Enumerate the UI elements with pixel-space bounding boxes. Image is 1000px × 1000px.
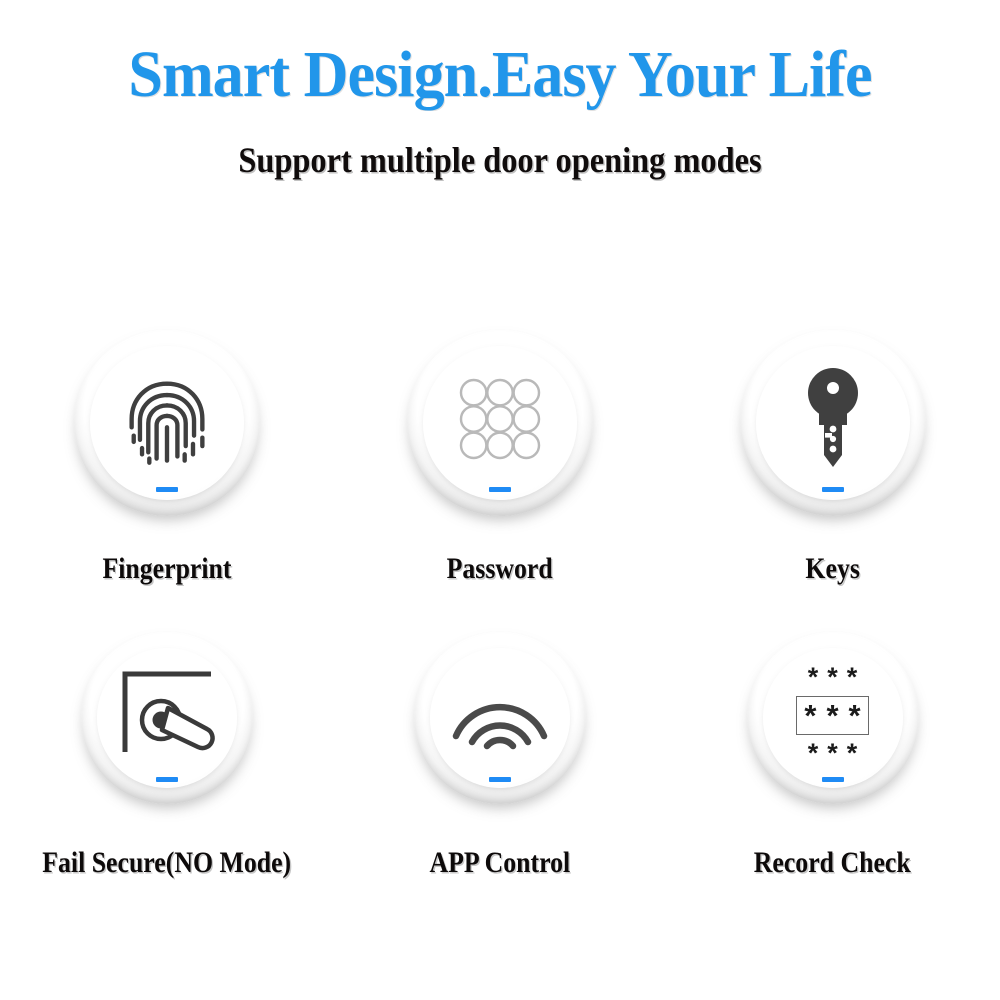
door-handle-icon [112, 659, 222, 769]
feature-label: Record Check [754, 848, 911, 878]
record-asterisks-icon: * * * * * * * * * [774, 662, 892, 769]
feature-item-password[interactable]: Password [333, 330, 666, 584]
record-asterisk: * [804, 700, 816, 731]
indicator-dash [489, 777, 511, 782]
feature-label: Fail Secure(NO Mode) [42, 848, 291, 878]
feature-item-app-control[interactable]: APP Control [333, 632, 666, 878]
feature-row-top: Fingerprint [0, 330, 1000, 584]
feature-label: Keys [805, 554, 859, 584]
feature-label: Fingerprint [102, 554, 231, 584]
indicator-dash [822, 777, 844, 782]
record-asterisk: * [827, 664, 838, 691]
feature-label: APP Control [429, 848, 570, 878]
feature-row-bottom: Fail Secure(NO Mode) APP Control [0, 632, 1000, 878]
feature-medallion[interactable] [407, 330, 593, 516]
feature-medallion[interactable] [414, 632, 586, 804]
fingerprint-icon [112, 364, 222, 474]
indicator-dash [489, 487, 511, 492]
page-title: Smart Design.Easy Your Life [30, 42, 970, 108]
key-icon [778, 364, 888, 474]
indicator-dash [156, 777, 178, 782]
record-asterisk: * [808, 664, 819, 691]
keypad-grid-icon [445, 364, 555, 474]
record-asterisk: * [826, 700, 838, 731]
record-asterisk: * [849, 700, 861, 731]
record-row-bottom: * * * [808, 738, 858, 769]
feature-medallion[interactable] [81, 632, 253, 804]
feature-medallion[interactable] [740, 330, 926, 516]
indicator-dash [156, 487, 178, 492]
record-asterisk: * [808, 740, 819, 767]
feature-label: Password [446, 554, 552, 584]
wifi-signal-icon [445, 659, 555, 769]
feature-item-keys[interactable]: Keys [666, 330, 999, 584]
record-row-selected: * * * [796, 696, 868, 735]
feature-item-fail-secure[interactable]: Fail Secure(NO Mode) [0, 632, 333, 878]
feature-item-fingerprint[interactable]: Fingerprint [0, 330, 333, 584]
record-row-top: * * * [808, 662, 858, 693]
record-asterisk: * [847, 740, 858, 767]
page-header: Smart Design.Easy Your Life Support mult… [0, 0, 1000, 178]
feature-item-record-check[interactable]: * * * * * * * * * [666, 632, 999, 878]
feature-medallion[interactable] [74, 330, 260, 516]
record-asterisk: * [827, 740, 838, 767]
page-subtitle: Support multiple door opening modes [50, 108, 950, 178]
feature-medallion[interactable]: * * * * * * * * * [747, 632, 919, 804]
record-asterisk: * [847, 664, 858, 691]
indicator-dash [822, 487, 844, 492]
feature-grid: Fingerprint [0, 330, 1000, 878]
